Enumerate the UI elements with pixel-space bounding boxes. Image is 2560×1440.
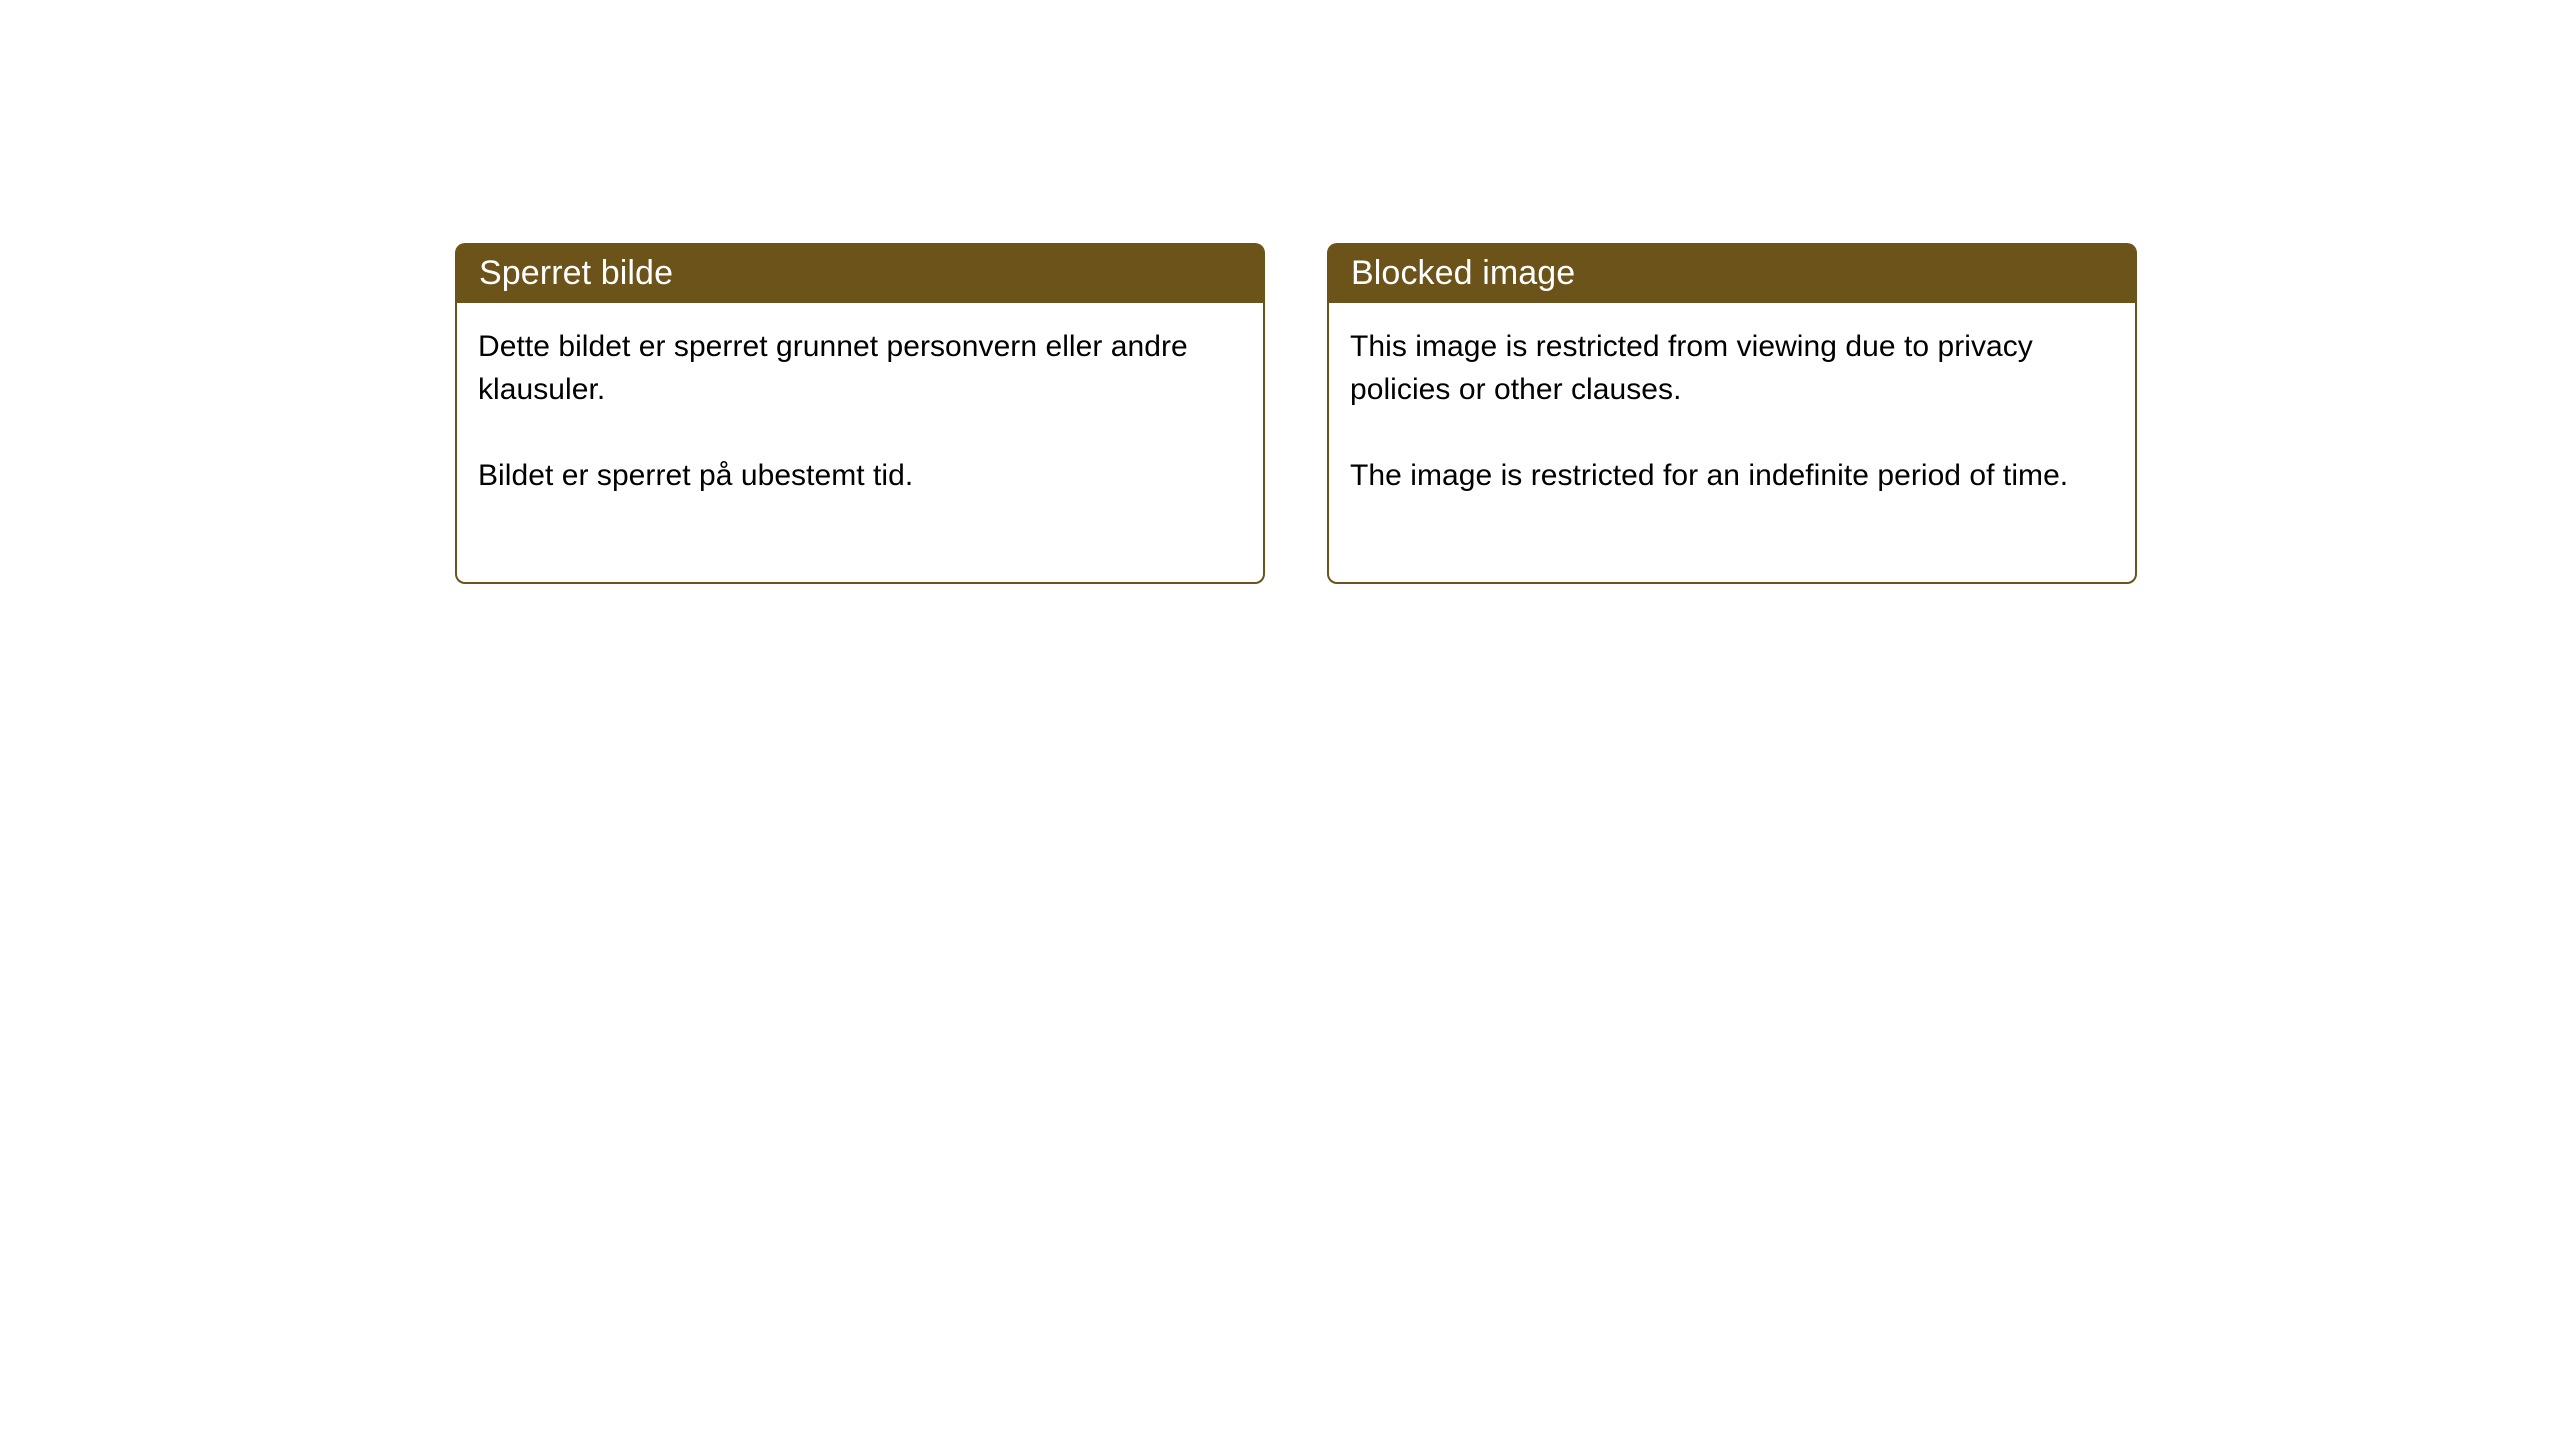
card-body-no: Dette bildet er sperret grunnet personve… <box>455 303 1265 584</box>
card-title-en: Blocked image <box>1351 253 1575 293</box>
card-paragraph-no-1: Dette bildet er sperret grunnet personve… <box>478 325 1239 411</box>
blocked-image-notice-card-en: Blocked image This image is restricted f… <box>1327 243 2137 584</box>
card-paragraph-en-2: The image is restricted for an indefinit… <box>1350 454 2111 497</box>
card-paragraph-en-1: This image is restricted from viewing du… <box>1350 325 2111 411</box>
page-root: Sperret bilde Dette bildet er sperret gr… <box>0 0 2560 1440</box>
blocked-image-notice-card-no: Sperret bilde Dette bildet er sperret gr… <box>455 243 1265 584</box>
card-header-en: Blocked image <box>1327 243 2137 303</box>
card-body-en: This image is restricted from viewing du… <box>1327 303 2137 584</box>
card-paragraph-no-2: Bildet er sperret på ubestemt tid. <box>478 454 1239 497</box>
notice-cards-row: Sperret bilde Dette bildet er sperret gr… <box>455 243 2137 584</box>
card-header-no: Sperret bilde <box>455 243 1265 303</box>
card-title-no: Sperret bilde <box>479 253 673 293</box>
